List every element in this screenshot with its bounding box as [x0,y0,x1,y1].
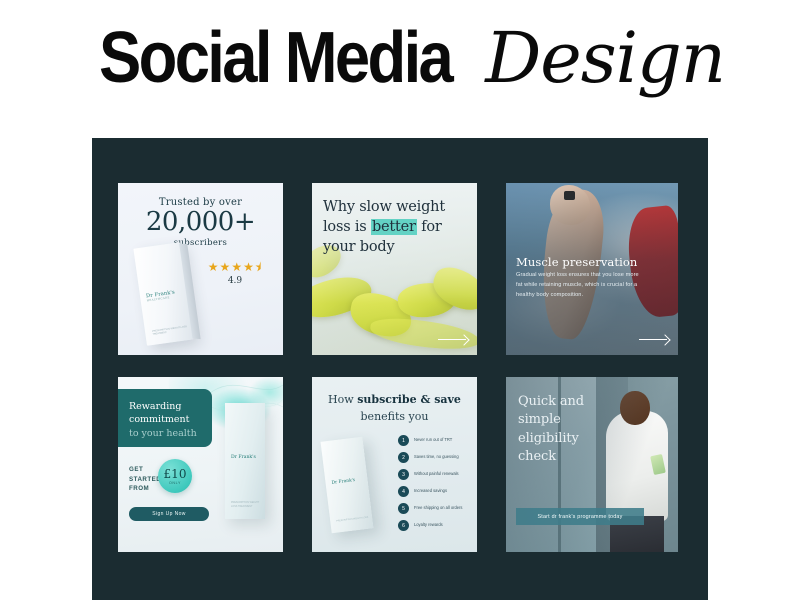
list-item: 2 Saves time, no guessing [398,452,472,463]
list-item-label: Increased savings [414,486,447,494]
list-item-number: 5 [398,503,409,514]
slow-loss-line1: Why slow weight [323,199,445,215]
page-title: Social MediaDesign [0,22,800,94]
list-item: 4 Increased savings [398,486,472,497]
product-footer-text: PRESCRIPTION WEIGHT LOSS [336,517,368,524]
sign-up-now-button[interactable]: Sign Up Now [129,507,209,521]
slow-loss-line2-post: for [417,219,442,235]
subscribe-heading-bold: subscribe & save [357,393,461,406]
list-item: 5 Free shipping on all orders [398,503,472,514]
product-box-image: Dr Frank's HEALTHCARE PRESCRIPTION WEIGH… [133,242,193,346]
price-badge: £10 ONLY [158,459,192,493]
product-footer-text: PRESCRIPTION WEIGHT LOSS TREATMENT [152,324,193,337]
trusted-headline-big: 20,000+ [118,209,283,236]
benefits-list: 1 Never run out of TRT 2 Saves time, no … [398,435,472,537]
page-title-bold: Social Media [99,22,451,94]
page-root: Social MediaDesign Trusted by over 20,00… [0,0,800,600]
product-footer-text: PRESCRIPTION WEIGHT LOSS TREATMENT [231,501,265,509]
page-title-italic: Design [485,23,725,93]
showcase-panel: Trusted by over 20,000+ subscribers Dr F… [92,138,708,600]
rewarding-headline: Rewarding commitment to your health [129,400,204,440]
subscribe-heading-pre: How [328,393,357,406]
eligibility-line1: Quick and [518,394,584,409]
card-muscle-preservation[interactable]: Muscle preservation Gradual weight loss … [506,183,678,355]
list-item-label: Loyalty rewards [414,520,443,528]
rewarding-teal-panel: Rewarding commitment to your health [118,389,212,447]
slow-loss-line2-pre: loss is [323,219,371,235]
muscle-body-text: Gradual weight loss ensures that you los… [516,271,644,300]
rewarding-line3: to your health [129,428,197,439]
slow-loss-highlight: better [371,219,417,235]
eligibility-line4: check [518,449,556,464]
eligibility-line2: simple [518,412,561,427]
list-item-label: Never run out of TRT [414,435,452,443]
price-note: ONLY [169,481,181,485]
rating-value: 4.9 [201,276,269,286]
list-item: 6 Loyalty rewards [398,520,472,531]
get-started-label: GET STARTED FROM [129,465,161,494]
eligibility-headline: Quick and simple eligibility check [518,393,614,467]
image-overlay [506,183,678,355]
list-item: 3 Without painful renewals [398,469,472,480]
slow-loss-headline: Why slow weight loss is better for your … [323,197,467,257]
eligibility-line3: eligibility [518,431,579,446]
card-eligibility-check[interactable]: Quick and simple eligibility check Start… [506,377,678,552]
star-rating-icon: ★★★★⯨ [201,261,269,273]
card-rewarding-commitment[interactable]: Rewarding commitment to your health Dr F… [118,377,283,552]
card-grid: Trusted by over 20,000+ subscribers Dr F… [118,183,678,552]
list-item-label: Saves time, no guessing [414,452,459,460]
product-box-image: Dr Frank's PRESCRIPTION WEIGHT LOSS [321,437,374,533]
list-item: 1 Never run out of TRT [398,435,472,446]
card-subscribe-save[interactable]: How subscribe & save benefits you Dr Fra… [312,377,477,552]
list-item-label: Without painful renewals [414,469,459,477]
card-trusted[interactable]: Trusted by over 20,000+ subscribers Dr F… [118,183,283,355]
rewarding-line1: Rewarding [129,401,181,412]
trusted-heading: Trusted by over 20,000+ subscribers [118,197,283,248]
product-brand-label: Dr Frank's [331,478,355,486]
product-box-image: Dr Frank's PRESCRIPTION WEIGHT LOSS TREA… [225,403,265,519]
list-item-number: 2 [398,452,409,463]
rewarding-line2: commitment [129,414,189,425]
list-item-number: 3 [398,469,409,480]
list-item-number: 4 [398,486,409,497]
subscribe-heading-line2: benefits you [361,410,429,423]
price-amount: £10 [164,468,187,480]
arrow-right-icon[interactable] [438,335,468,345]
product-brand-label: Dr Frank's [231,455,256,460]
subscribe-heading: How subscribe & save benefits you [320,392,469,425]
muscle-title: Muscle preservation [516,255,668,269]
start-programme-button[interactable]: Start dr frank's programme today [516,508,644,525]
list-item-number: 6 [398,520,409,531]
card-slow-weight-loss[interactable]: Why slow weight loss is better for your … [312,183,477,355]
list-item-label: Free shipping on all orders [414,503,462,511]
slow-loss-line3: your body [323,239,395,255]
arrow-right-icon[interactable] [639,335,669,345]
list-item-number: 1 [398,435,409,446]
product-brand-label: Dr Frank's HEALTHCARE [146,289,176,302]
